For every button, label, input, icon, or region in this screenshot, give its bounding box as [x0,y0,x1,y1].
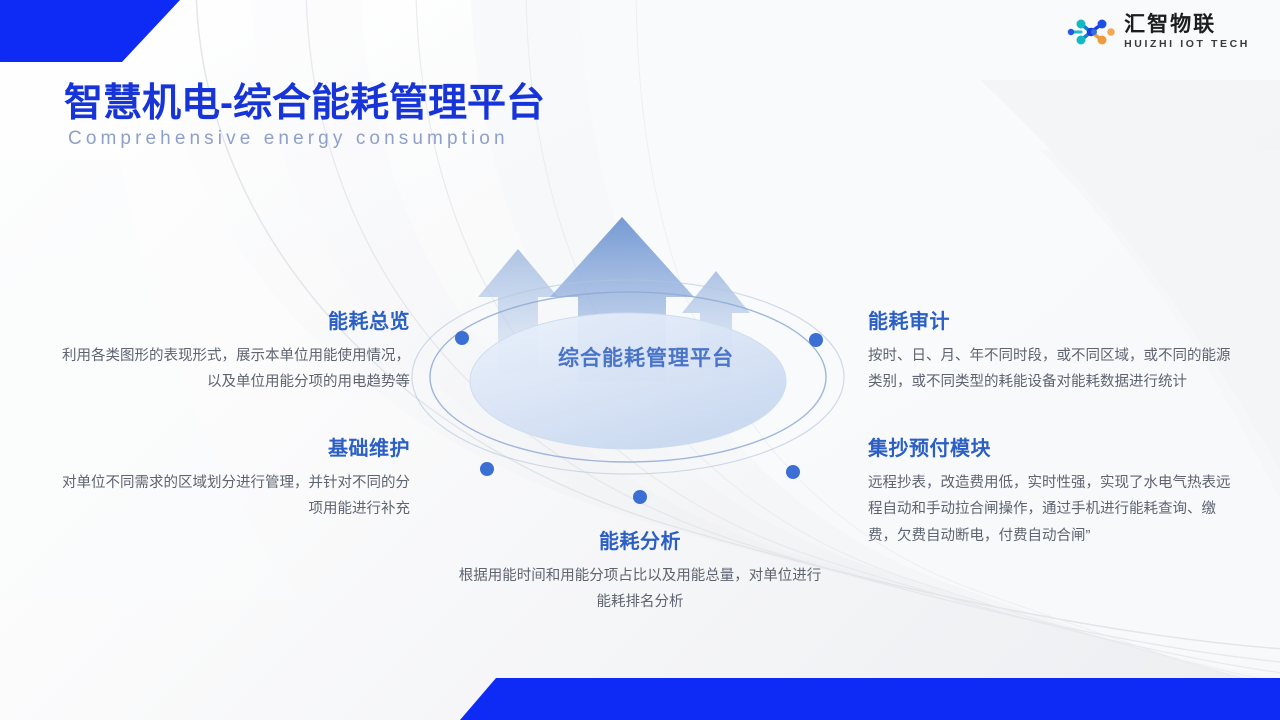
feature-block-analysis: 能耗分析 根据用能时间和用能分项占比以及用能总量，对单位进行能耗排名分析 [455,525,825,616]
corner-accent-bottom [460,678,1280,720]
feature-block-audit: 能耗审计 按时、日、月、年不同时段，或不同区域，或不同的能源类别，或不同类型的耗… [868,305,1240,396]
slide-root: 智慧机电-综合能耗管理平台 Comprehensive energy consu… [0,0,1280,720]
orbit-dot-1 [455,331,469,345]
feature-block-maintenance: 基础维护 对单位不同需求的区域划分进行管理，并针对不同的分项用能进行补充 [58,432,410,523]
orbit-dot-4 [786,465,800,479]
orbit-dot-5 [633,490,647,504]
page-subtitle: Comprehensive energy consumption [68,128,509,150]
center-label: 综合能耗管理平台 [536,342,756,372]
orbit-dot-3 [480,462,494,476]
feature-body-analysis: 根据用能时间和用能分项占比以及用能总量，对单位进行能耗排名分析 [455,563,825,616]
feature-body-overview: 利用各类图形的表现形式，展示本单位用能使用情况，以及单位用能分项的用电趋势等 [58,343,410,396]
feature-title-maintenance: 基础维护 [58,432,410,461]
brand-logo: 汇智物联 HUIZHI IOT TECH [1066,12,1250,52]
orbit-dot-2 [809,333,823,347]
feature-body-audit: 按时、日、月、年不同时段，或不同区域，或不同的能源类别，或不同类型的耗能设备对能… [868,343,1240,396]
molecule-network-icon [1066,12,1116,52]
feature-title-audit: 能耗审计 [868,305,1240,334]
page-title: 智慧机电-综合能耗管理平台 [64,72,545,128]
feature-body-maintenance: 对单位不同需求的区域划分进行管理，并针对不同的分项用能进行补充 [58,470,410,523]
logo-text: 汇智物联 HUIZHI IOT TECH [1124,14,1250,50]
feature-title-prepay: 集抄预付模块 [868,432,1240,461]
feature-body-prepay: 远程抄表，改造费用低，实时性强，实现了水电气热表远程自动和手动拉合闸操作，通过手… [868,470,1240,549]
feature-block-prepay: 集抄预付模块 远程抄表，改造费用低，实时性强，实现了水电气热表远程自动和手动拉合… [868,432,1240,549]
logo-name-en: HUIZHI IOT TECH [1124,39,1250,50]
feature-title-analysis: 能耗分析 [455,525,825,554]
logo-name-cn: 汇智物联 [1124,14,1250,35]
feature-title-overview: 能耗总览 [58,305,410,334]
corner-accent-top-left [0,0,180,62]
feature-block-overview: 能耗总览 利用各类图形的表现形式，展示本单位用能使用情况，以及单位用能分项的用电… [58,305,410,396]
